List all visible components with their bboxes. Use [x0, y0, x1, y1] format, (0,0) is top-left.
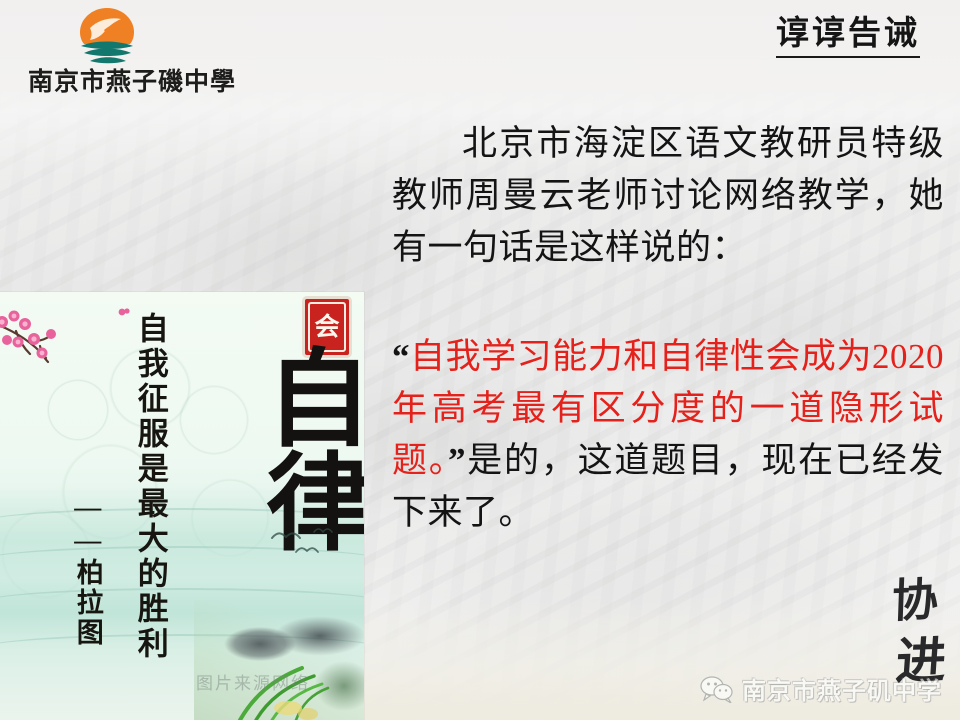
wechat-account-bar: 南京市燕子矶中学: [700, 671, 942, 706]
school-logo-block: 南京市燕子磯中學: [12, 4, 252, 96]
school-name-label: 南京市燕子磯中學: [12, 62, 252, 98]
corner-calligraphy-top-char: 协: [891, 577, 939, 625]
sun-swallow-wave-logo-icon: [74, 6, 140, 66]
page-title: 谆谆告诫: [776, 16, 920, 58]
quote-open-mark: “: [392, 337, 410, 376]
poster-quote-attribution: ——柏拉图: [72, 492, 102, 692]
wechat-icon: [700, 675, 734, 703]
self-discipline-poster: 会 自律 自我征服是最大的胜利 ——柏拉图 图片来源网络: [0, 292, 364, 720]
slide-canvas: 南京市燕子磯中學 谆谆告诫 北京市海淀区语文教研员特级教师周曼云老师讨论网络教学…: [0, 0, 960, 720]
plum-blossom-icon: [0, 298, 124, 382]
quote-follow-text: 是的，这道题目，现在已经发下来了。: [392, 441, 944, 532]
quote-paragraph: “自我学习能力和自律性会成为2020年高考最有区分度的一道隐形试题。”是的，这道…: [392, 331, 944, 539]
poster-watermark-label: 图片来源网络: [196, 669, 310, 694]
body-text-column: 北京市海淀区语文教研员特级教师周曼云老师讨论网络教学，她有一句话是这样说的： “…: [392, 118, 944, 539]
poster-vertical-quote: 自我征服是最大的胜利: [132, 312, 167, 712]
quote-close-mark: ”: [448, 441, 466, 480]
plum-blossom-accent-icon: [118, 304, 130, 314]
intro-paragraph: 北京市海淀区语文教研员特级教师周曼云老师讨论网络教学，她有一句话是这样说的：: [392, 118, 944, 274]
wechat-account-label: 南京市燕子矶中学: [742, 671, 942, 706]
flying-birds-icon: [268, 524, 338, 564]
